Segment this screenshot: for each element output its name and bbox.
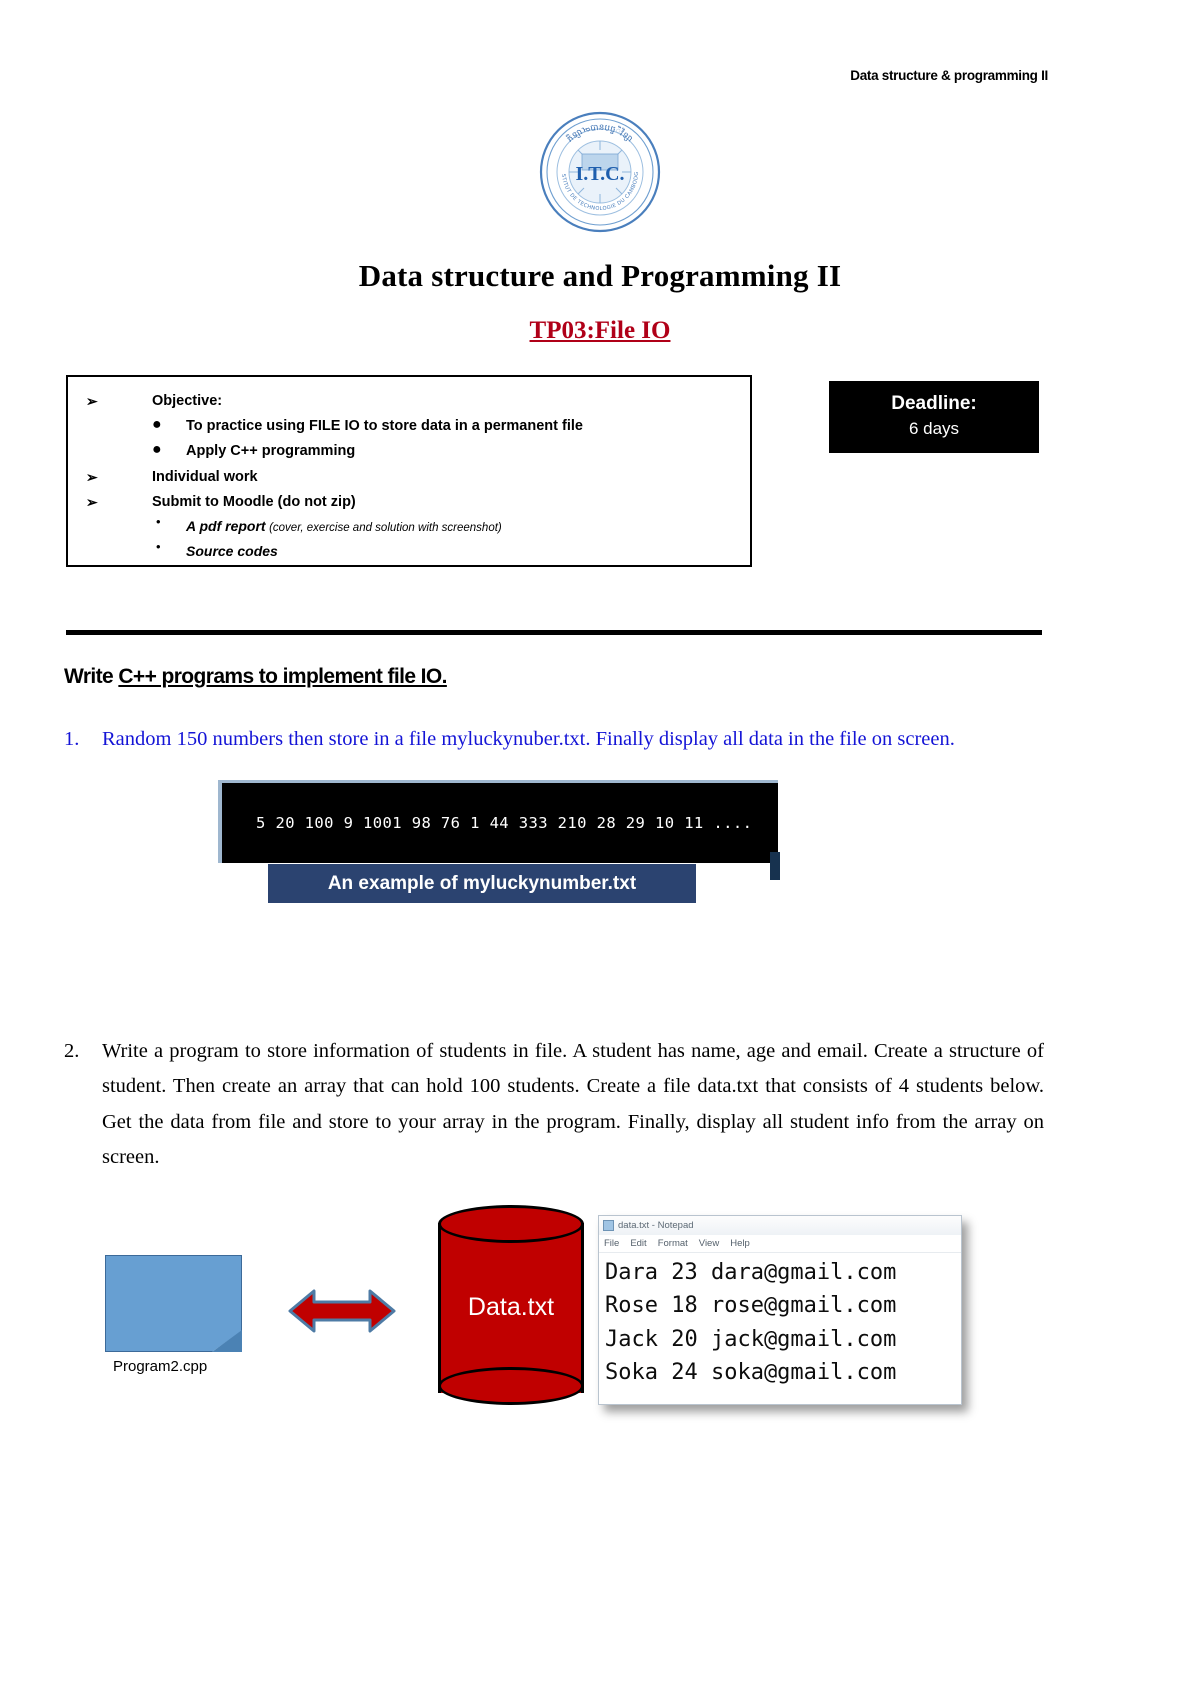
objective-deliverable-2: • Source codes	[68, 543, 750, 559]
arrow-bullet-icon: ➢	[86, 494, 98, 510]
small-bullet-icon: •	[156, 515, 161, 530]
objective-individual-work-label: Individual work	[152, 469, 258, 485]
arrow-bullet-icon: ➢	[86, 393, 98, 409]
deadline-title: Deadline:	[829, 392, 1039, 417]
list-item-number: 2.	[64, 1034, 79, 1069]
objective-box: ➢ Objective: ● To practice using FILE IO…	[66, 375, 752, 567]
objective-bullet-2-label: Apply C++ programming	[186, 443, 355, 459]
double-headed-arrow-icon	[288, 1285, 396, 1337]
notepad-icon	[603, 1220, 614, 1231]
round-bullet-icon: ●	[152, 416, 162, 434]
page-subtitle: TP03:File IO	[0, 317, 1200, 345]
menu-item-format[interactable]: Format	[658, 1238, 688, 1249]
page-subtitle-text: TP03:File IO	[530, 317, 671, 344]
notepad-title-bar[interactable]: data.txt - Notepad	[599, 1216, 961, 1235]
menu-item-help[interactable]: Help	[730, 1238, 750, 1249]
program-file-label: Program2.cpp	[105, 1358, 273, 1375]
cylinder-bottom	[438, 1367, 584, 1405]
round-bullet-icon: ●	[152, 441, 162, 459]
objective-bullet-1: ● To practice using FILE IO to store dat…	[68, 418, 750, 435]
list-item: 1. Random 150 numbers then store in a fi…	[64, 722, 1044, 757]
menu-item-edit[interactable]: Edit	[630, 1238, 646, 1249]
list-item-text: Random 150 numbers then store in a file …	[102, 722, 1044, 757]
terminal-figure: 5 20 100 9 1001 98 76 1 44 333 210 28 29…	[218, 780, 778, 863]
svg-text:I.T.C.: I.T.C.	[575, 163, 624, 185]
objective-heading-label: Objective:	[152, 393, 222, 409]
objective-heading: ➢ Objective:	[68, 393, 750, 410]
objective-submit-label: Submit to Moodle (do not zip)	[152, 494, 356, 510]
cylinder-label: Data.txt	[438, 1293, 584, 1322]
cylinder-top	[438, 1205, 584, 1243]
storage-diagram: Program2.cpp Data.txt data.txt - Notepad…	[0, 1195, 1200, 1415]
terminal-output-text: 5 20 100 9 1001 98 76 1 44 333 210 28 29…	[256, 814, 752, 832]
deadline-badge: Deadline: 6 days	[829, 381, 1039, 453]
notepad-title-text: data.txt - Notepad	[618, 1220, 694, 1231]
objective-deliverable-1-note: (cover, exercise and solution with scree…	[269, 522, 502, 534]
page-title: Data structure and Programming II	[0, 258, 1200, 294]
section-heading-underlined: C++ programs to implement file IO.	[118, 665, 447, 688]
section-heading-prefix: Write	[64, 665, 118, 688]
notepad-text-area[interactable]: Dara 23 dara@gmail.com Rose 18 rose@gmai…	[599, 1253, 961, 1390]
notepad-menu-bar[interactable]: File Edit Format View Help	[599, 1235, 961, 1253]
objective-submit: ➢ Submit to Moodle (do not zip)	[68, 494, 750, 511]
running-head: Data structure & programming II	[850, 68, 1048, 83]
section-heading: Write C++ programs to implement file IO.	[64, 665, 447, 689]
program-file-shape	[105, 1255, 242, 1352]
database-cylinder: Data.txt	[438, 1205, 584, 1405]
figure-caption-text: An example of myluckynumber.txt	[328, 873, 636, 895]
terminal-shadow	[770, 852, 780, 880]
itc-logo: I.T.C. ភិទ្យាᠣបានបច្ច᝿ិវិទ្យា INSTITUT D…	[538, 110, 662, 234]
objective-deliverable-2-label: Source codes	[186, 543, 278, 559]
arrow-bullet-icon: ➢	[86, 469, 98, 485]
list-item-text: Write a program to store information of …	[102, 1034, 1044, 1175]
objective-bullet-1-label: To practice using FILE IO to store data …	[186, 418, 583, 434]
document-page: Data structure & programming II	[0, 0, 1200, 1696]
list-item: 2. Write a program to store information …	[64, 1034, 1044, 1175]
list-item-number: 1.	[64, 722, 79, 757]
deadline-value: 6 days	[829, 417, 1039, 441]
menu-item-file[interactable]: File	[604, 1238, 619, 1249]
section-divider	[66, 630, 1042, 635]
objective-individual-work: ➢ Individual work	[68, 469, 750, 486]
small-bullet-icon: •	[156, 540, 161, 555]
notepad-window[interactable]: data.txt - Notepad File Edit Format View…	[598, 1215, 962, 1405]
logo-container: I.T.C. ភិទ្យាᠣបានបច្ច᝿ិវិទ្យា INSTITUT D…	[0, 110, 1200, 239]
objective-bullet-2: ● Apply C++ programming	[68, 443, 750, 460]
objective-deliverable-1-label: A pdf report	[186, 518, 266, 534]
figure-caption-banner: An example of myluckynumber.txt	[268, 864, 696, 903]
objective-deliverable-1: • A pdf report (cover, exercise and solu…	[68, 518, 750, 535]
program-file-sheet	[105, 1255, 242, 1352]
menu-item-view[interactable]: View	[699, 1238, 719, 1249]
